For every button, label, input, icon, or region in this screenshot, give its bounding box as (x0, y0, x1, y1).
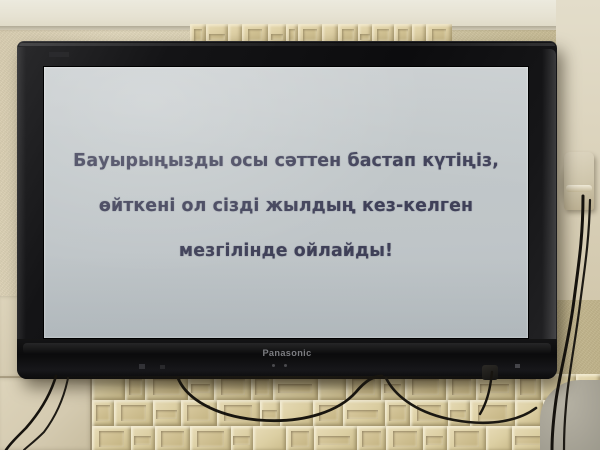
wall-bracket-lip (566, 185, 592, 192)
tv-screen: Бауырыңызды осы сәттен бастап күтіңіз, ө… (44, 67, 528, 338)
wall-block (217, 400, 260, 426)
tv-bezel-highlight (19, 43, 555, 46)
wall-block (155, 426, 190, 450)
wall-block (253, 426, 286, 450)
wall-block (153, 400, 181, 426)
slide-line-1: Бауырыңызды осы сәттен бастап күтіңіз, (73, 151, 499, 171)
tv-bottom-bezel: Panasonic (17, 339, 557, 379)
wall-block (131, 426, 155, 450)
wall-block (515, 400, 543, 426)
slide-line-2: өйткені ол сізді жылдың кез-келген (99, 196, 473, 216)
wall-block (386, 426, 423, 450)
wall-block (313, 400, 343, 426)
wall-block (92, 426, 131, 450)
control-panel-secondary-icon[interactable] (160, 365, 165, 369)
wall-block (181, 400, 217, 426)
wall-block-row (92, 400, 600, 426)
tv-top-left-label (49, 52, 69, 57)
tv-drop-shadow (24, 376, 554, 390)
wall-block (410, 400, 448, 426)
tv-brand-logo: Panasonic (17, 348, 557, 358)
wall-bracket-fixture (564, 152, 594, 210)
wall-block (343, 400, 385, 426)
ambient-sensor-icon (284, 364, 287, 367)
television: Бауырыңызды осы сәттен бастап күтіңіз, ө… (17, 41, 557, 379)
wall-block-row (92, 426, 600, 450)
wall-block (470, 400, 515, 426)
wall-block (357, 426, 386, 450)
wall-block (314, 426, 357, 450)
wall-block (423, 426, 447, 450)
wall-right-plaster-column (556, 0, 600, 300)
wall-block (286, 426, 313, 450)
wall-block (114, 400, 154, 426)
wall-block (486, 426, 512, 450)
tv-bezel-left-sheen (17, 47, 26, 349)
wall-block (448, 400, 470, 426)
wall-block (385, 400, 411, 426)
photo-scene: Бауырыңызды осы сәттен бастап күтіңіз, ө… (0, 0, 600, 450)
ir-receiver-icon (272, 364, 275, 367)
tv-bezel-right-sheen (542, 49, 556, 359)
wall-block (260, 400, 280, 426)
wall-block (280, 400, 314, 426)
slide-line-3: мезгілінде ойлайды! (179, 241, 393, 261)
slide-content: Бауырыңызды осы сәттен бастап күтіңіз, ө… (44, 67, 528, 338)
control-panel-icon[interactable] (139, 364, 145, 369)
wall-block (92, 400, 114, 426)
cable-plug (482, 365, 498, 380)
power-led-icon (515, 364, 520, 368)
wall-block (190, 426, 231, 450)
wall-block (231, 426, 253, 450)
wall-block (447, 426, 486, 450)
